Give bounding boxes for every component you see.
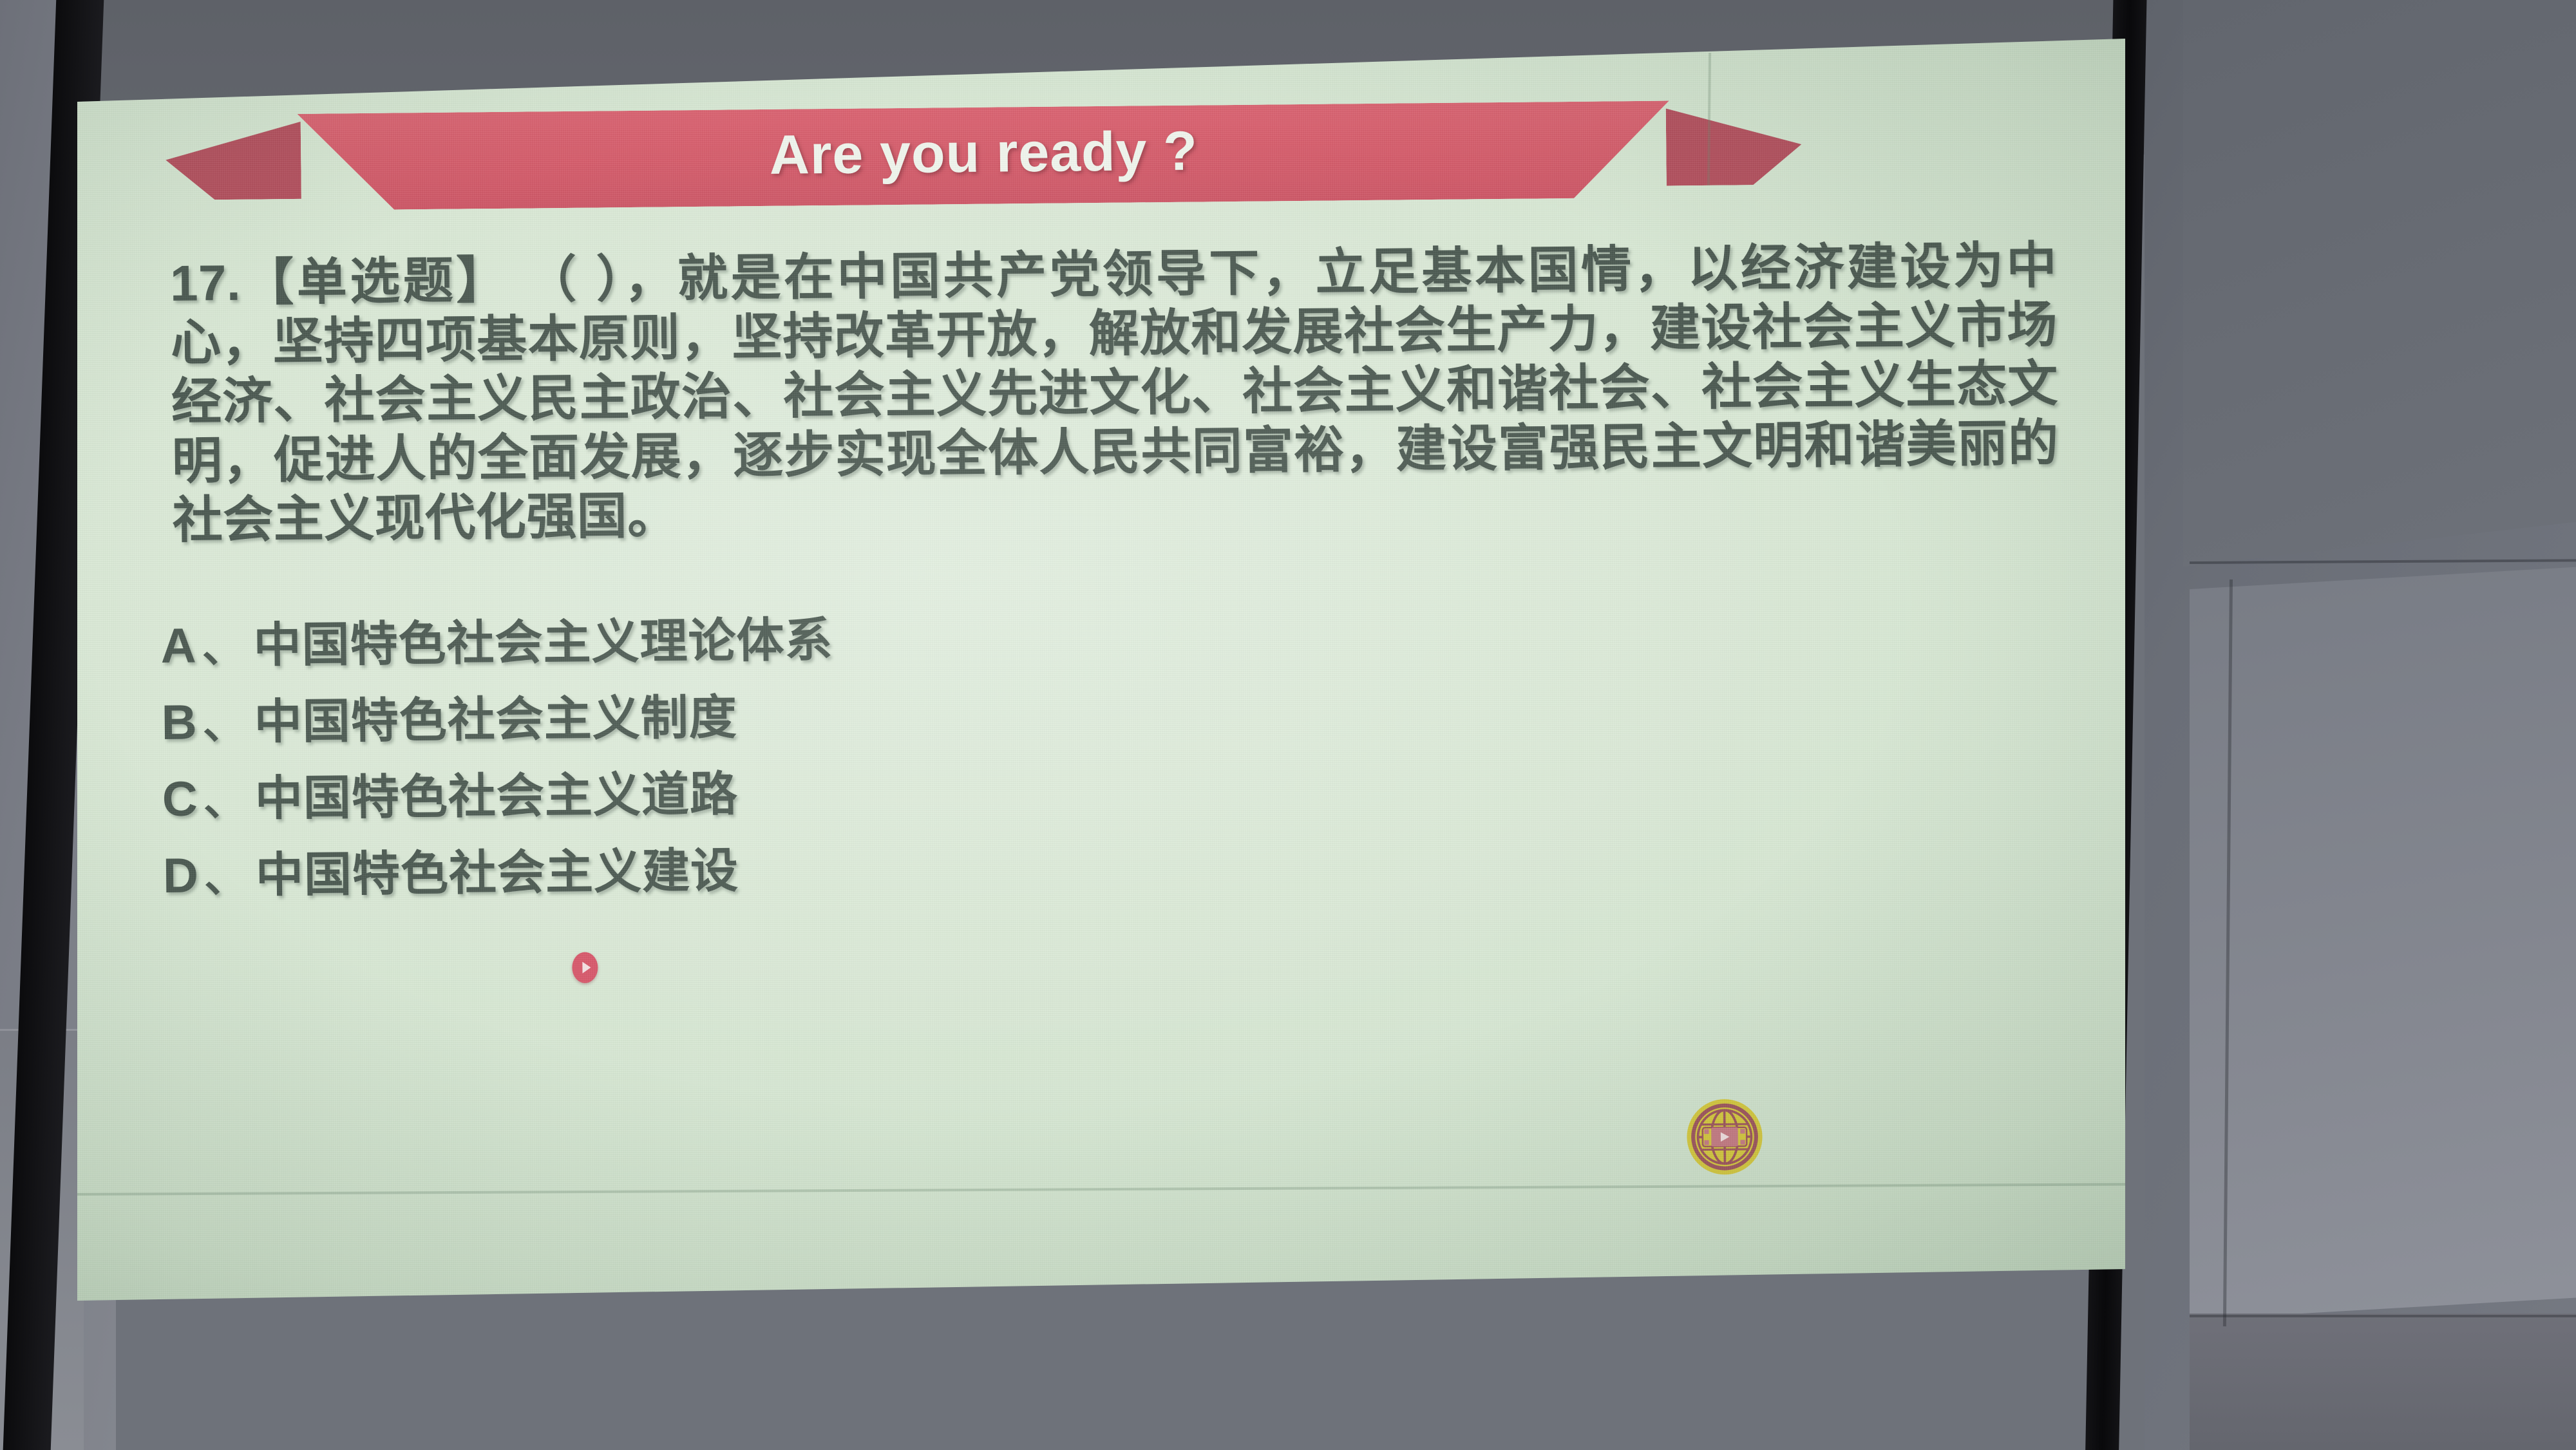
option-separator-a: 、 <box>202 613 245 675</box>
options-list: A 、 中国特色社会主义理论体系 B 、 中国特色社会主义制度 C 、 中国特色… <box>160 593 1709 914</box>
slide-content: Are you ready ? 17.【单选题】 （ ），就是在中国共产党领导下… <box>77 39 2125 1301</box>
ribbon-body: Are you ready ? <box>298 100 1670 210</box>
option-separator-d: 、 <box>204 843 247 905</box>
option-text-b: 中国特色社会主义制度 <box>254 679 737 752</box>
option-letter-c: C <box>162 771 202 827</box>
option-text-a: 中国特色社会主义理论体系 <box>253 601 833 676</box>
option-separator-c: 、 <box>203 766 246 829</box>
ribbon-wing-left <box>166 122 301 200</box>
wall-panel-right-middle <box>2190 567 2576 1320</box>
banner-title: Are you ready ? <box>769 119 1198 187</box>
classroom-photo-scene: Are you ready ? 17.【单选题】 （ ），就是在中国共产党领导下… <box>0 0 2576 1450</box>
ribbon-wing-right <box>1666 108 1802 186</box>
ribbon-banner: Are you ready ? <box>298 100 1670 210</box>
globe-film-play-logo-icon <box>1685 1097 1764 1176</box>
option-letter-b: B <box>161 694 202 751</box>
option-letter-d: D <box>163 847 204 904</box>
projection-screen: Are you ready ? 17.【单选题】 （ ），就是在中国共产党领导下… <box>77 39 2125 1301</box>
option-text-d: 中国特色社会主义建设 <box>255 832 739 905</box>
option-text-c: 中国特色社会主义道路 <box>254 755 738 829</box>
option-letter-a: A <box>160 617 201 674</box>
wall-panel-right-upper <box>2183 0 2576 567</box>
option-row-b[interactable]: B 、 中国特色社会主义制度 <box>161 670 1707 753</box>
question-text: 17.【单选题】 （ ），就是在中国共产党领导下，立足基本国情，以经济建设为中心… <box>170 236 2060 550</box>
option-separator-b: 、 <box>202 690 245 752</box>
option-row-a[interactable]: A 、 中国特色社会主义理论体系 <box>160 593 1707 677</box>
play-icon[interactable] <box>572 952 598 983</box>
wall-panel-right-lower <box>2190 1313 2576 1450</box>
option-row-d[interactable]: D 、 中国特色社会主义建设 <box>162 823 1709 907</box>
option-row-c[interactable]: C 、 中国特色社会主义道路 <box>162 746 1708 830</box>
wall-seam-right-bottom <box>2190 1315 2576 1317</box>
play-triangle-icon <box>582 962 591 974</box>
